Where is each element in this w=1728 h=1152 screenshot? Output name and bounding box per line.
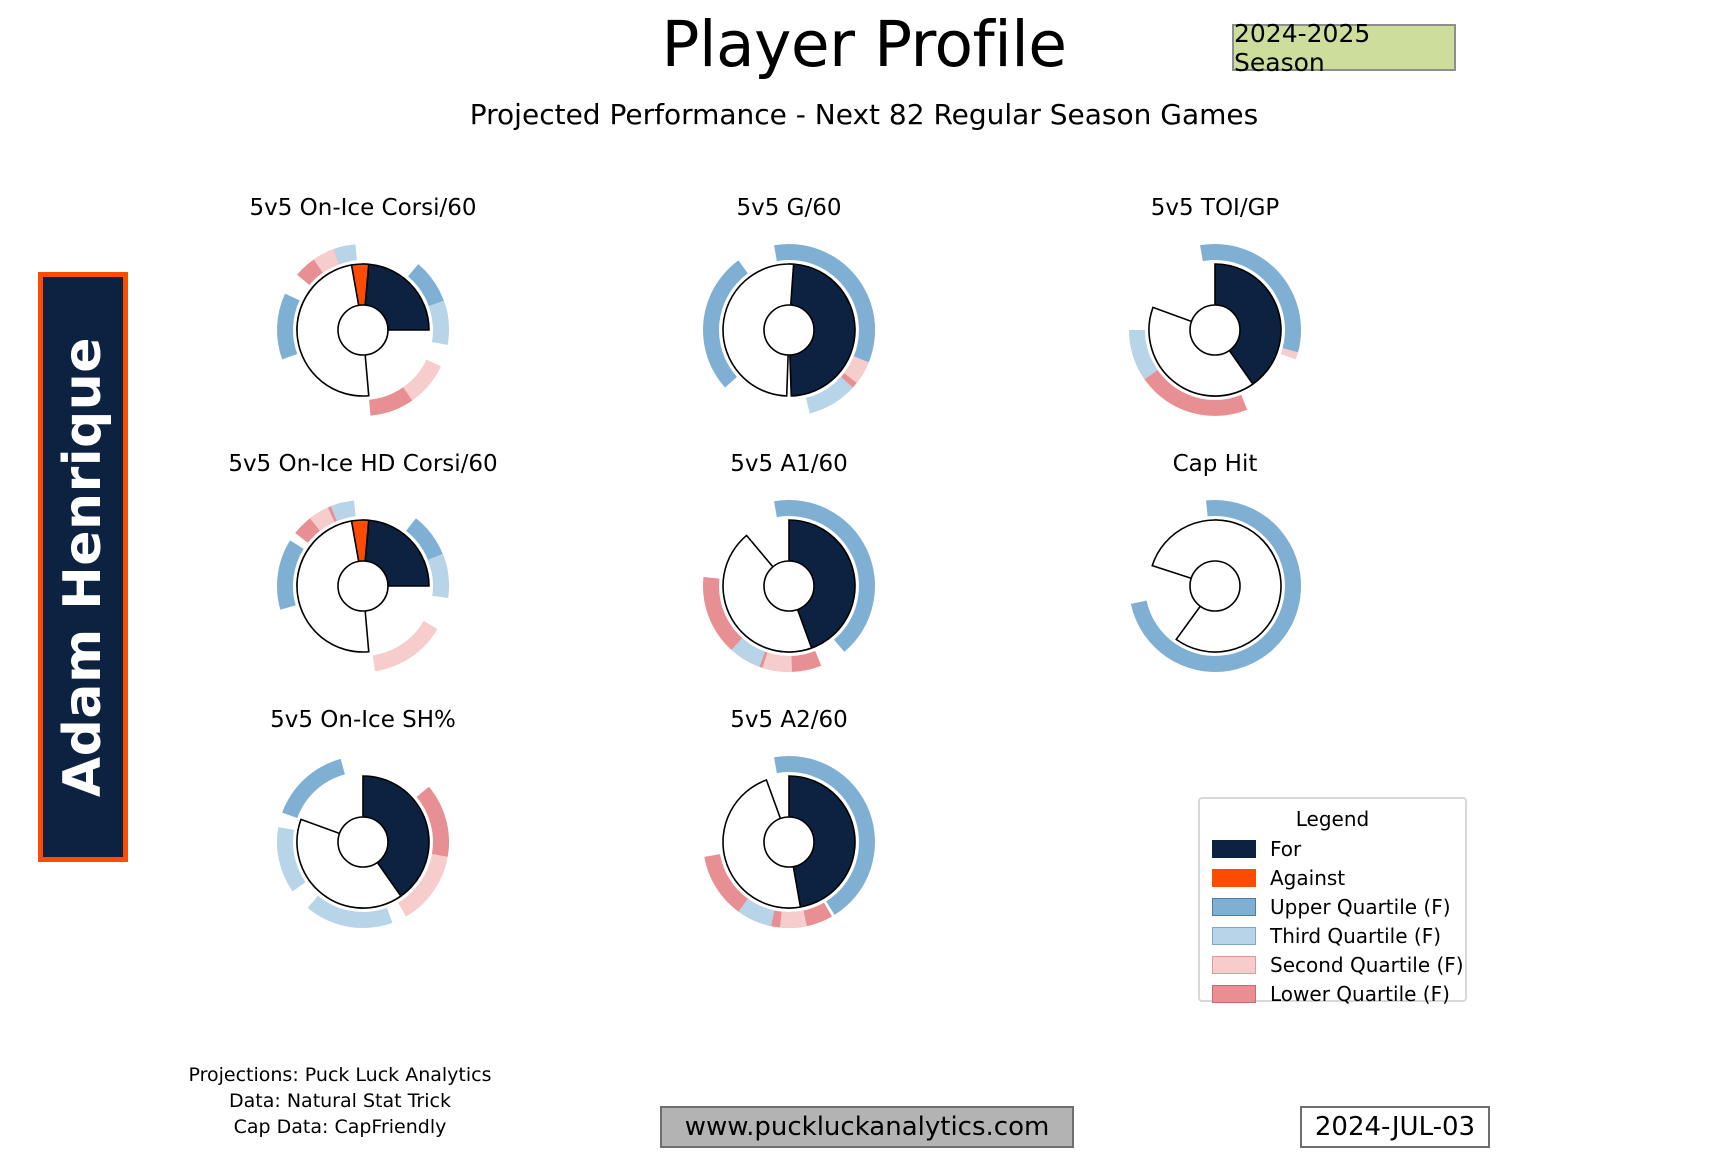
quartile-band [282, 759, 345, 818]
legend-item-label: Lower Quartile (F) [1270, 982, 1450, 1006]
donut-center-hole [338, 817, 388, 867]
chart-cell-hd-corsi60: 5v5 On-Ice HD Corsi/60 [150, 436, 576, 692]
legend-swatch [1212, 985, 1256, 1003]
donut-chart-a2-60 [696, 749, 882, 935]
legend-item: Second Quartile (F) [1200, 950, 1465, 979]
quartile-band [369, 387, 412, 415]
chart-title-g60: 5v5 G/60 [576, 195, 1002, 221]
chart-title-on-ice-shpct: 5v5 On-Ice SH% [150, 707, 576, 733]
chart-cell-cap-hit: Cap Hit [1002, 436, 1428, 692]
donut-center-hole [338, 561, 388, 611]
donut-center-hole [764, 561, 814, 611]
legend-swatch [1212, 840, 1256, 858]
page-subtitle: Projected Performance - Next 82 Regular … [0, 97, 1728, 133]
chart-title-toigp: 5v5 TOI/GP [1002, 195, 1428, 221]
quartile-band [277, 294, 300, 360]
legend-panel: Legend ForAgainstUpper Quartile (F)Third… [1198, 797, 1467, 1002]
donut-center-hole [764, 817, 814, 867]
donut-chart-cap-hit [1122, 493, 1308, 679]
legend-item: Third Quartile (F) [1200, 921, 1465, 950]
donut-center-hole [338, 305, 388, 355]
player-name-label: Adam Henrique [53, 337, 113, 797]
legend-title: Legend [1200, 807, 1465, 831]
footer-credit-line: Projections: Puck Luck Analytics [120, 1062, 560, 1088]
donut-chart-corsi60 [270, 237, 456, 423]
legend-item-label: Third Quartile (F) [1270, 924, 1441, 948]
chart-cell-a1-60: 5v5 A1/60 [576, 436, 1002, 692]
chart-cell-a2-60: 5v5 A2/60 [576, 692, 1002, 948]
chart-title-a2-60: 5v5 A2/60 [576, 707, 1002, 733]
donut-chart-toigp [1122, 237, 1308, 423]
legend-item-label: Upper Quartile (F) [1270, 895, 1451, 919]
quartile-band [780, 910, 807, 928]
legend-item: For [1200, 834, 1465, 863]
footer-date: 2024-JUL-03 [1300, 1106, 1490, 1148]
donut-chart-hd-corsi60 [270, 493, 456, 679]
footer-credit-line: Data: Natural Stat Trick [120, 1088, 560, 1114]
legend-item-label: For [1270, 837, 1301, 861]
chart-title-a1-60: 5v5 A1/60 [576, 451, 1002, 477]
donut-chart-on-ice-shpct [270, 749, 456, 935]
legend-swatch [1212, 869, 1256, 887]
quartile-band [373, 621, 438, 671]
footer-credits: Projections: Puck Luck AnalyticsData: Na… [120, 1062, 560, 1140]
chart-cell-on-ice-shpct: 5v5 On-Ice SH% [150, 692, 576, 948]
quartile-band [428, 554, 449, 598]
quartile-band [762, 653, 792, 672]
donut-center-hole [1190, 561, 1240, 611]
legend-rows: ForAgainstUpper Quartile (F)Third Quarti… [1200, 834, 1465, 1008]
legend-item: Against [1200, 863, 1465, 892]
footer-website: www.puckluckanalytics.com [660, 1106, 1074, 1148]
donut-center-hole [764, 305, 814, 355]
chart-title-corsi60: 5v5 On-Ice Corsi/60 [150, 195, 576, 221]
footer-credit-line: Cap Data: CapFriendly [120, 1114, 560, 1140]
page-title: Player Profile [0, 6, 1728, 84]
legend-item: Lower Quartile (F) [1200, 979, 1465, 1008]
chart-cell-toigp: 5v5 TOI/GP [1002, 180, 1428, 436]
donut-chart-a1-60 [696, 493, 882, 679]
legend-item-label: Against [1270, 866, 1345, 890]
player-name-banner: Adam Henrique [38, 272, 128, 862]
season-badge: 2024-2025 Season [1232, 24, 1456, 71]
legend-swatch [1212, 898, 1256, 916]
chart-cell-g60: 5v5 G/60 [576, 180, 1002, 436]
chart-title-cap-hit: Cap Hit [1002, 451, 1428, 477]
chart-cell-corsi60: 5v5 On-Ice Corsi/60 [150, 180, 576, 436]
quartile-band [429, 301, 449, 345]
page-header: Player Profile Projected Performance - N… [0, 0, 1728, 160]
donut-chart-g60 [696, 237, 882, 423]
legend-item-label: Second Quartile (F) [1270, 953, 1464, 977]
legend-swatch [1212, 956, 1256, 974]
donut-center-hole [1190, 305, 1240, 355]
legend-item: Upper Quartile (F) [1200, 892, 1465, 921]
chart-title-hd-corsi60: 5v5 On-Ice HD Corsi/60 [150, 451, 576, 477]
legend-swatch [1212, 927, 1256, 945]
